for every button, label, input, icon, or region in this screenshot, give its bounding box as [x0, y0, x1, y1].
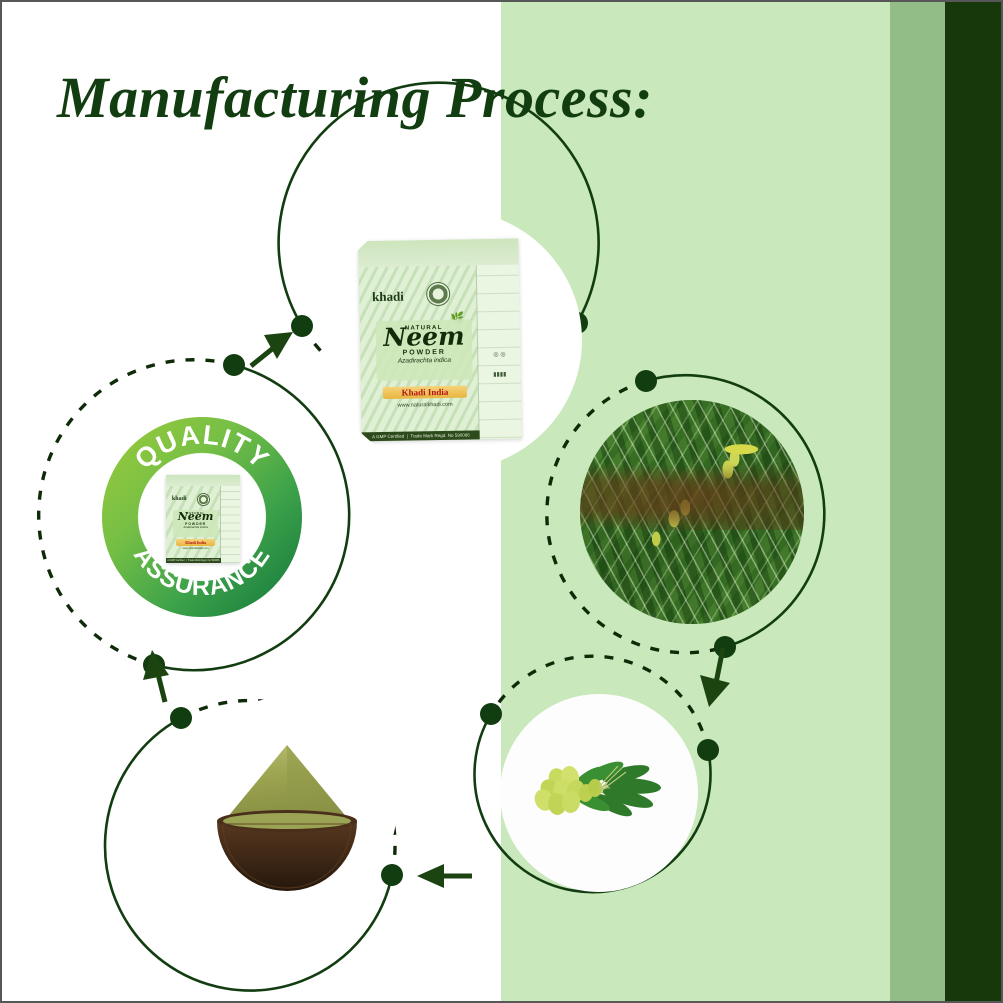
ring-dot-product-left: [291, 315, 313, 337]
product-barcode-marks: ▮▮▮▮: [482, 371, 517, 379]
background-band-mid-green: [890, 2, 945, 1001]
badge-box-seal-icon: [197, 493, 210, 506]
product-certification-marks: ◎ ◎: [482, 351, 517, 359]
badge-box-footer-left: A GMP Certified: [167, 559, 184, 562]
powder-bowl-illustration: [177, 697, 397, 917]
product-footer-divider: |: [405, 434, 409, 439]
step-neem-tree[interactable]: [580, 400, 804, 624]
ring-dot-quality-top: [223, 354, 245, 376]
arrow-powder-to-quality: [143, 650, 169, 702]
product-footer-left: A GMP Certified: [372, 434, 404, 440]
arrow-quality-to-product: [251, 332, 293, 366]
product-box-artwork: khadi 🌿 NATURAL Neem POWDER Azadirachta …: [358, 239, 521, 442]
badge-box-footer-right: Trade Mark Regd. No 590086: [188, 559, 220, 562]
ring-dot-quality-bottom: [143, 654, 165, 676]
khadi-india-seal: Khadi India: [383, 386, 466, 399]
ring-dot-branch-left: [480, 703, 502, 725]
product-box-top-panel: [358, 239, 518, 268]
step-packaged-product[interactable]: khadi 🌿 NATURAL Neem POWDER Azadirachta …: [322, 210, 582, 470]
product-footer-bar: A GMP Certified | Trade Mark Regd. No 59…: [362, 430, 481, 441]
step-neem-branch[interactable]: [500, 694, 698, 892]
arrow-branch-to-powder: [417, 864, 472, 888]
badge-box-footer-bar: A GMP Certified | Trade Mark Regd. No 59…: [166, 558, 221, 563]
step-quality-assurance[interactable]: QUALITY ASSURANCE khadi NATURAL Neem POW…: [102, 417, 302, 617]
product-box-side-panel: [476, 239, 522, 440]
badge-box-side-panel: [220, 475, 240, 563]
page-title: Manufacturing Process:: [57, 64, 653, 131]
product-brand-label: khadi: [372, 289, 404, 306]
neem-tree-background-soil: [580, 463, 804, 530]
badge-box-website: www.naturalkhadi.com: [176, 547, 214, 550]
badge-box-brand-label: khadi: [172, 496, 187, 502]
badge-product-box-artwork: khadi NATURAL Neem POWDER Azadirachta in…: [166, 475, 240, 563]
manufacturing-process-infographic: Manufacturing Process:: [0, 0, 1003, 1003]
product-footer-right: Trade Mark Regd. No 590086: [410, 432, 469, 438]
product-label-plate: NATURAL Neem POWDER Azadirachta indica: [376, 319, 473, 381]
background-band-dark-green: [945, 2, 1001, 1001]
badge-box-khadi-india-seal: Khadi India: [176, 539, 214, 546]
badge-box-label-plate: NATURAL Neem POWDER Azadirachta indica: [173, 510, 217, 536]
badge-box-top-panel: [166, 475, 240, 486]
product-line-name: Neem: [376, 325, 472, 350]
step-neem-powder[interactable]: [177, 697, 397, 917]
neem-branch-illustration: [500, 694, 698, 892]
badge-text-quality: QUALITY: [129, 419, 275, 474]
product-scientific-name: Azadirachta indica: [376, 358, 472, 366]
neem-tree-photo: [580, 400, 804, 624]
badge-box-scientific-name: Azadirachta indica: [173, 526, 217, 529]
